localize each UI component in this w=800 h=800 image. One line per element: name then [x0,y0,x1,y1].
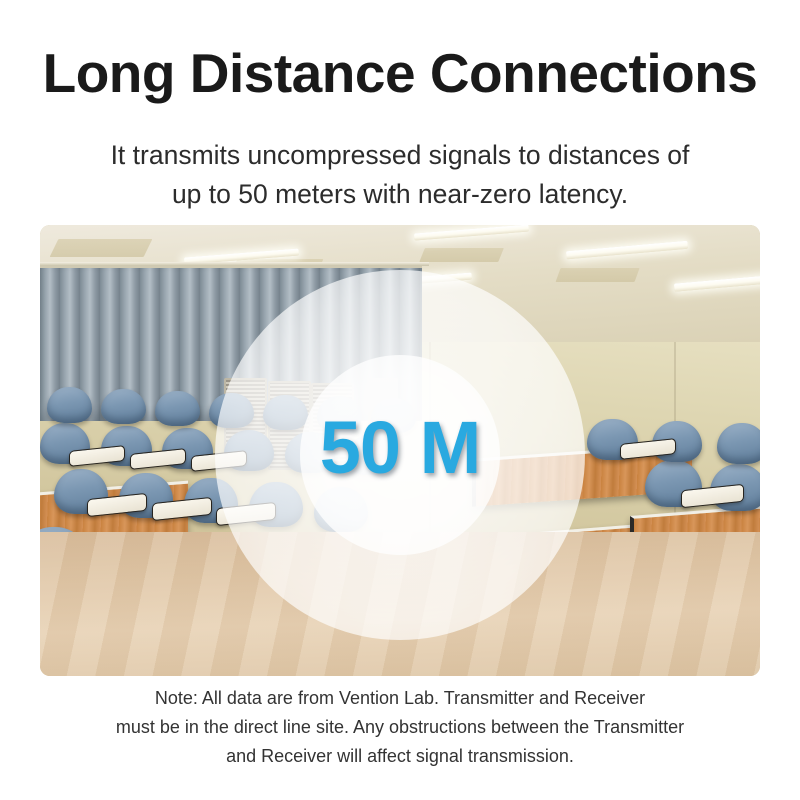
floor [40,532,760,676]
lecture-seat [47,387,92,422]
subtitle-line-1: It transmits uncompressed signals to dis… [60,136,740,175]
footnote-line-2: must be in the direct line site. Any obs… [55,713,745,742]
classroom-photo: 50 M [40,225,760,676]
lecture-seat [717,423,760,464]
subtitle: It transmits uncompressed signals to dis… [60,136,740,214]
footnote: Note: All data are from Vention Lab. Tra… [55,684,745,771]
lecture-seat [371,398,416,433]
ceiling-tile [50,239,152,257]
footnote-line-3: and Receiver will affect signal transmis… [55,742,745,771]
lecture-seat [314,487,368,532]
lecture-seat [285,432,335,473]
promo-banner: Long Distance Connections It transmits u… [0,0,800,800]
subtitle-line-2: up to 50 meters with near-zero latency. [60,175,740,214]
page-title: Long Distance Connections [0,40,800,106]
lecture-seat [209,393,254,428]
lecture-seat [155,391,200,426]
lecture-seat [317,396,362,431]
footnote-line-1: Note: All data are from Vention Lab. Tra… [55,684,745,713]
lecture-seat [263,395,308,430]
wall-seam [429,342,431,549]
ceiling-tile [556,268,640,282]
lecture-seat [101,389,146,424]
ceiling-tile [419,248,504,262]
